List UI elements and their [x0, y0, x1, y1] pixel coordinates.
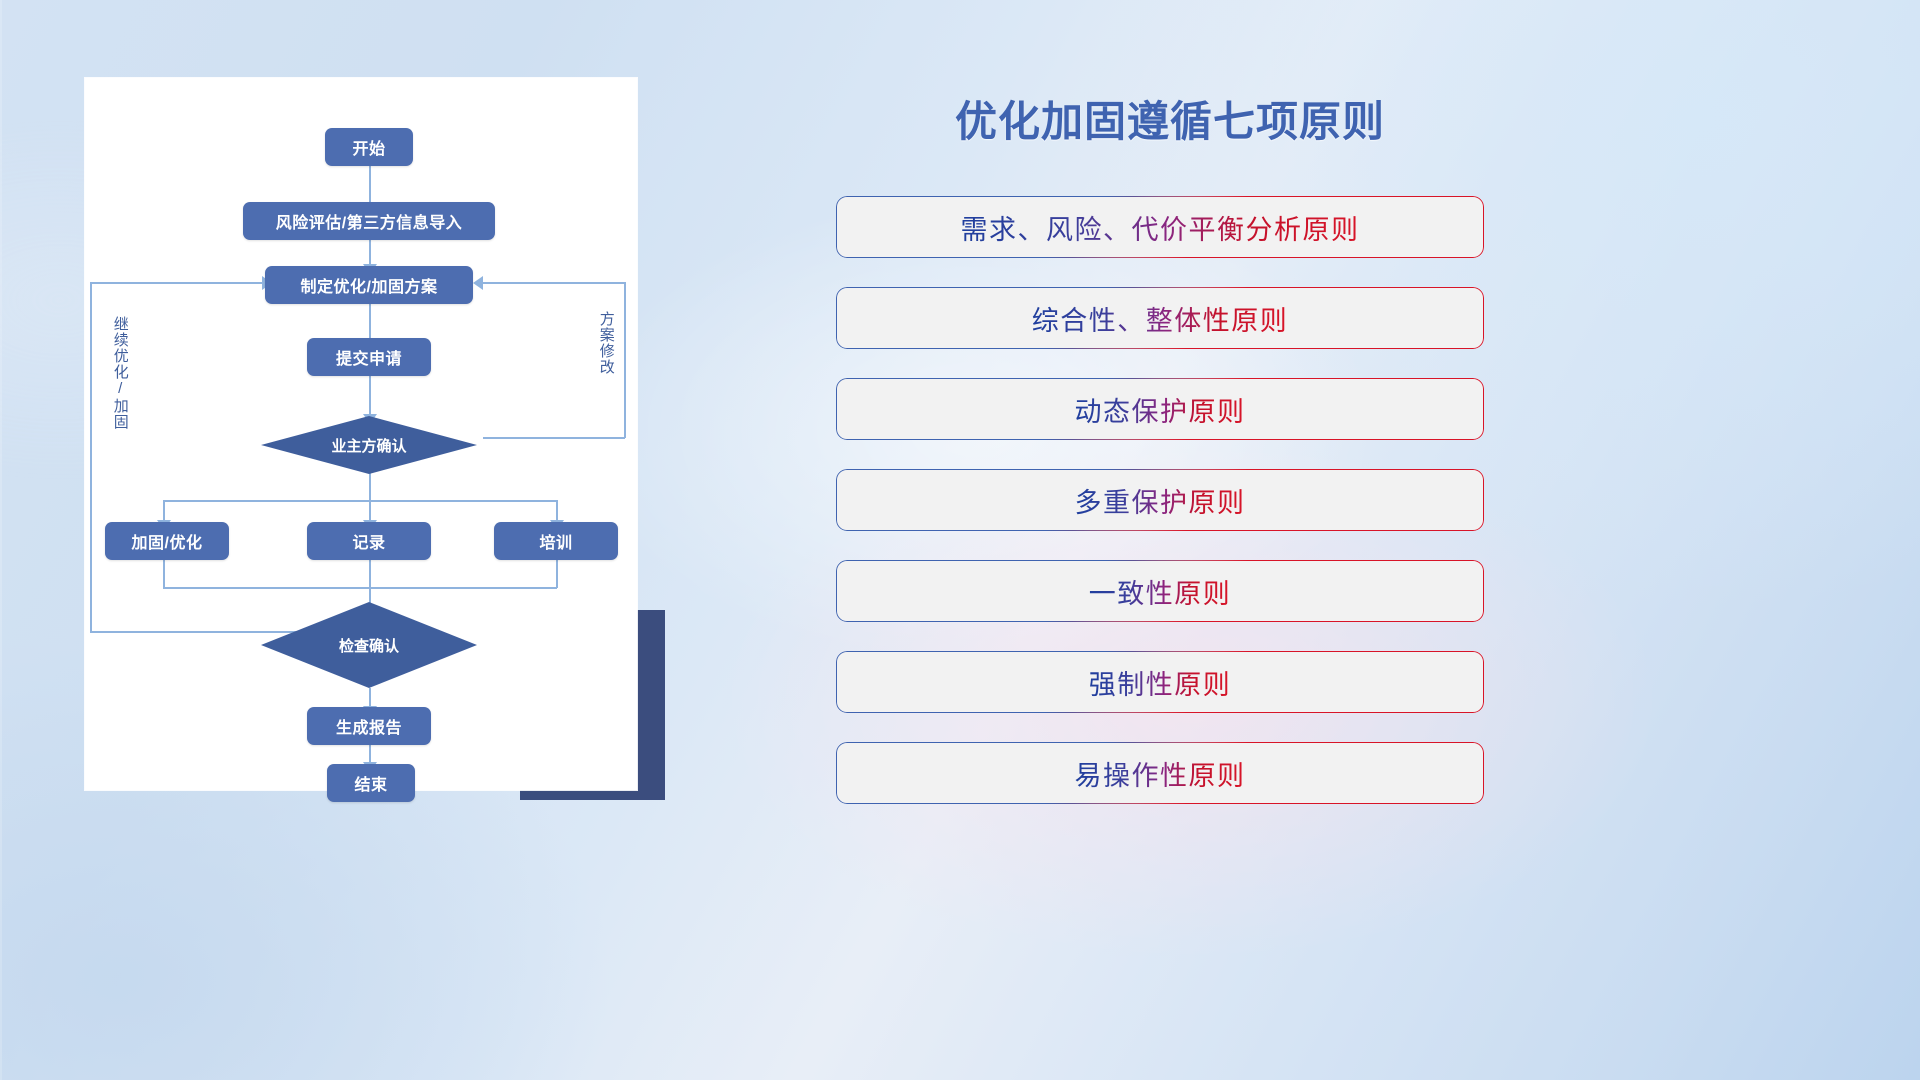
flow-node-train[interactable]: 培训	[494, 522, 618, 560]
flow-node-reinforce[interactable]: 加固/优化	[105, 522, 229, 560]
page-title: 优化加固遵循七项原则	[820, 88, 1520, 149]
flow-node-submit[interactable]: 提交申请	[307, 338, 431, 376]
principle-card-2[interactable]: 综合性、整体性原则	[836, 287, 1484, 349]
principle-label-5: 一致性原则	[1089, 572, 1232, 611]
principle-card-6[interactable]: 强制性原则	[836, 651, 1484, 713]
principles-panel: 优化加固遵循七项原则 需求、风险、代价平衡分析原则 综合性、整体性原则 动态保护…	[820, 0, 1520, 1080]
loop-right-bottom	[483, 437, 625, 439]
edge-merge-right	[556, 560, 558, 588]
edge-merge-bus	[163, 587, 557, 589]
principle-card-7[interactable]: 易操作性原则	[836, 742, 1484, 804]
edge-plan-submit	[369, 304, 371, 342]
principle-label-3: 动态保护原则	[1075, 390, 1246, 429]
flow-node-start-label: 开始	[352, 135, 385, 159]
flow-node-report[interactable]: 生成报告	[307, 707, 431, 745]
edge-branch-bus	[163, 500, 557, 502]
flow-node-check-confirm-label: 检查确认	[339, 635, 399, 656]
edge-label-right-loop: 方案修改	[598, 311, 614, 375]
loop-right-vertical	[624, 282, 626, 438]
flow-node-assess[interactable]: 风险评估/第三方信息导入	[243, 202, 495, 240]
principle-label-7: 易操作性原则	[1075, 754, 1246, 793]
flow-node-plan[interactable]: 制定优化/加固方案	[265, 266, 473, 304]
flow-node-owner-confirm[interactable]: 业主方确认	[261, 416, 477, 474]
principle-label-6: 强制性原则	[1089, 663, 1232, 702]
flow-node-end[interactable]: 结束	[327, 764, 415, 802]
principle-label-2: 综合性、整体性原则	[1032, 299, 1289, 338]
flow-node-submit-label: 提交申请	[336, 345, 402, 369]
principle-card-3[interactable]: 动态保护原则	[836, 378, 1484, 440]
flow-node-end-label: 结束	[354, 771, 387, 795]
principle-label-1: 需求、风险、代价平衡分析原则	[961, 208, 1360, 247]
flow-node-record[interactable]: 记录	[307, 522, 431, 560]
flow-node-plan-label: 制定优化/加固方案	[301, 273, 438, 297]
flowchart-panel: 继续优化/加固 方案修改 开始 风险评估/第三方信息导入 制定优化/加固方案 提…	[85, 78, 637, 790]
edge-label-left-loop: 继续优化/加固	[112, 316, 128, 430]
edge-merge-left	[163, 560, 165, 588]
loop-left-top	[90, 282, 265, 284]
edge-owner-to-right-loop	[483, 437, 493, 439]
loop-left-vertical	[90, 282, 92, 632]
principle-card-4[interactable]: 多重保护原则	[836, 469, 1484, 531]
loop-right-arrowhead	[473, 276, 483, 290]
flow-node-train-label: 培训	[539, 529, 572, 553]
flow-node-record-label: 记录	[352, 529, 385, 553]
flow-node-owner-confirm-label: 业主方确认	[331, 435, 406, 456]
flow-node-start[interactable]: 开始	[325, 128, 413, 166]
principle-label-4: 多重保护原则	[1075, 481, 1246, 520]
principle-card-1[interactable]: 需求、风险、代价平衡分析原则	[836, 196, 1484, 258]
flow-node-check-confirm[interactable]: 检查确认	[261, 602, 477, 688]
principle-card-5[interactable]: 一致性原则	[836, 560, 1484, 622]
loop-right-top	[483, 282, 625, 284]
flow-node-assess-label: 风险评估/第三方信息导入	[276, 209, 462, 233]
flow-node-report-label: 生成报告	[336, 714, 402, 738]
flow-node-reinforce-label: 加固/优化	[132, 529, 203, 553]
edge-submit-owner	[369, 376, 371, 418]
edge-owner-down	[369, 473, 371, 501]
